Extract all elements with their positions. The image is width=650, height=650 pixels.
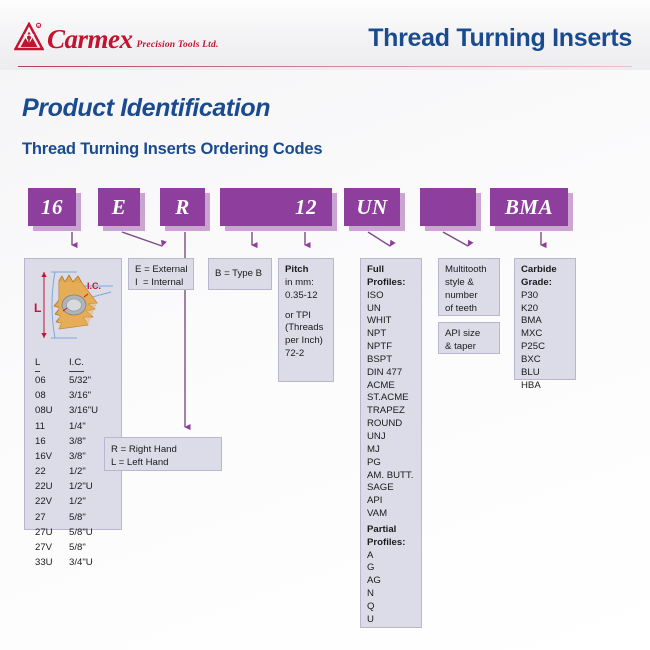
grade-item: P30 bbox=[521, 290, 569, 303]
full-profile-item: PG bbox=[367, 457, 415, 470]
pitch-spacer bbox=[285, 303, 327, 310]
size-table-header-l: L bbox=[35, 355, 40, 372]
code-box-direction[interactable]: R bbox=[160, 188, 205, 226]
full-profiles-list: ISOUNWHITNPTNPTFBSPTDIN 477ACMEST.ACMETR… bbox=[367, 290, 415, 521]
brand-tagline: Precision Tools Ltd. bbox=[137, 40, 219, 50]
grade-item: P25C bbox=[521, 341, 569, 354]
type-box: B = Type B bbox=[208, 258, 272, 290]
size-table-cell-ic: 5/32" bbox=[69, 373, 121, 388]
api-line: & taper bbox=[445, 341, 493, 354]
header-divider bbox=[18, 66, 632, 67]
grade-item: HBA bbox=[521, 380, 569, 393]
size-table-row: 08U3/16"U bbox=[35, 403, 121, 418]
partial-profile-item: U bbox=[367, 614, 415, 627]
direction-line: L = Left Hand bbox=[111, 457, 215, 470]
size-table-header: L I.C. bbox=[35, 355, 121, 373]
size-table-cell-l: 27U bbox=[35, 525, 69, 540]
partial-profile-item: Q bbox=[367, 601, 415, 614]
full-profile-item: AM. BUTT. bbox=[367, 470, 415, 483]
code-box-label: R bbox=[175, 195, 190, 220]
pitch-line: or TPI bbox=[285, 310, 327, 323]
partial-profile-item: AG bbox=[367, 575, 415, 588]
multitooth-line: style & bbox=[445, 277, 493, 290]
full-profile-item: UN bbox=[367, 303, 415, 316]
full-profile-item: NPTF bbox=[367, 341, 415, 354]
code-box-type[interactable] bbox=[220, 188, 280, 226]
code-box-profile[interactable]: UN bbox=[344, 188, 400, 226]
hand-type-box: E = External I = Internal bbox=[128, 258, 194, 290]
page-root: R Carmex Precision Tools Ltd. Thread Tur… bbox=[0, 0, 650, 650]
pitch-line: 0.35-12 bbox=[285, 290, 327, 303]
size-table-row: 083/16" bbox=[35, 388, 121, 403]
size-table-cell-l: 22 bbox=[35, 464, 69, 479]
grade-title: Grade: bbox=[521, 277, 569, 290]
partial-profiles-list: AGAGNQU bbox=[367, 550, 415, 627]
full-profile-item: ROUND bbox=[367, 418, 415, 431]
code-box-label: 16 bbox=[41, 195, 63, 220]
full-profile-item: SAGE bbox=[367, 482, 415, 495]
size-table-cell-l: 08 bbox=[35, 388, 69, 403]
api-box: API size & taper bbox=[438, 322, 500, 354]
size-table-cell-l: 16V bbox=[35, 449, 69, 464]
code-box-pitch[interactable]: 12 bbox=[280, 188, 332, 226]
size-table-cell-ic: 3/16"U bbox=[69, 403, 121, 418]
size-table-cell-l: 08U bbox=[35, 403, 69, 418]
full-profiles-title: Full bbox=[367, 264, 415, 277]
direction-box: R = Right Hand L = Left Hand bbox=[104, 437, 222, 471]
size-table-cell-ic: 5/8"U bbox=[69, 525, 121, 540]
api-line: API size bbox=[445, 328, 493, 341]
insert-diagram-box: L I.C. L I.C. 065/32"083/16"08U3/16"U111… bbox=[24, 258, 122, 530]
size-table-row: 111/4" bbox=[35, 419, 121, 434]
size-table-row: 22U1/2"U bbox=[35, 479, 121, 494]
pitch-box: Pitch in mm: 0.35-12 or TPI (Threads per… bbox=[278, 258, 334, 382]
size-table-cell-l: 16 bbox=[35, 434, 69, 449]
multitooth-line: of teeth bbox=[445, 303, 493, 316]
full-profile-item: MJ bbox=[367, 444, 415, 457]
size-table-row: 065/32" bbox=[35, 373, 121, 388]
size-table-row: 27U5/8"U bbox=[35, 525, 121, 540]
grade-item: BXC bbox=[521, 354, 569, 367]
page-header: R Carmex Precision Tools Ltd. Thread Tur… bbox=[0, 0, 650, 70]
grade-item: BMA bbox=[521, 315, 569, 328]
code-box-grade[interactable]: BMA bbox=[490, 188, 568, 226]
full-profile-item: UNJ bbox=[367, 431, 415, 444]
size-table-cell-l: 27 bbox=[35, 510, 69, 525]
grade-box: Carbide Grade: P30K20BMAMXCP25CBXCBLUHBA bbox=[514, 258, 576, 380]
size-table-cell-ic: 3/4"U bbox=[69, 555, 121, 570]
page-title: Product Identification bbox=[22, 94, 270, 123]
code-box-label: E bbox=[112, 195, 127, 220]
partial-profiles-title: Partial bbox=[367, 524, 415, 537]
size-table-cell-ic: 3/16" bbox=[69, 388, 121, 403]
pitch-title: Pitch bbox=[285, 264, 327, 277]
size-table-cell-l: 33U bbox=[35, 555, 69, 570]
type-line: B = Type B bbox=[215, 268, 262, 281]
full-profile-item: TRAPEZ bbox=[367, 405, 415, 418]
header-title: Thread Turning Inserts bbox=[368, 24, 632, 53]
size-table-cell-ic: 1/4" bbox=[69, 419, 121, 434]
size-table-row: 275/8" bbox=[35, 510, 121, 525]
full-profile-item: ISO bbox=[367, 290, 415, 303]
pitch-line: per Inch) bbox=[285, 335, 327, 348]
size-table-row: 27V5/8" bbox=[35, 540, 121, 555]
full-profile-item: ST.ACME bbox=[367, 392, 415, 405]
size-table-cell-l: 22V bbox=[35, 494, 69, 509]
direction-line: R = Right Hand bbox=[111, 444, 215, 457]
code-box-multitooth[interactable] bbox=[420, 188, 476, 226]
grade-item: BLU bbox=[521, 367, 569, 380]
grade-list: P30K20BMAMXCP25CBXCBLUHBA bbox=[521, 290, 569, 393]
partial-profile-item: G bbox=[367, 562, 415, 575]
brand-name: Carmex bbox=[47, 26, 133, 53]
pitch-line: in mm: bbox=[285, 277, 327, 290]
grade-item: K20 bbox=[521, 303, 569, 316]
pitch-line: 72-2 bbox=[285, 348, 327, 361]
partial-profiles-title: Profiles: bbox=[367, 537, 415, 550]
size-table-cell-l: 22U bbox=[35, 479, 69, 494]
brand-logo: R Carmex Precision Tools Ltd. bbox=[14, 22, 219, 53]
code-box-size[interactable]: 16 bbox=[28, 188, 76, 226]
full-profile-item: ACME bbox=[367, 380, 415, 393]
size-table-cell-l: 06 bbox=[35, 373, 69, 388]
full-profile-item: DIN 477 bbox=[367, 367, 415, 380]
full-profiles-title: Profiles: bbox=[367, 277, 415, 290]
size-table-row: 22V1/2" bbox=[35, 494, 121, 509]
size-table-row: 33U3/4"U bbox=[35, 555, 121, 570]
code-box-label: UN bbox=[356, 195, 387, 220]
size-table-cell-ic: 1/2"U bbox=[69, 479, 121, 494]
full-profile-item: BSPT bbox=[367, 354, 415, 367]
size-table-cell-l: 27V bbox=[35, 540, 69, 555]
size-table-cell-ic: 1/2" bbox=[69, 494, 121, 509]
code-box-label: 12 bbox=[295, 195, 317, 220]
partial-profile-item: N bbox=[367, 588, 415, 601]
full-profile-item: API bbox=[367, 495, 415, 508]
full-profile-item: VAM bbox=[367, 508, 415, 521]
grade-title: Carbide bbox=[521, 264, 569, 277]
page-subtitle: Thread Turning Inserts Ordering Codes bbox=[22, 140, 322, 159]
full-profile-item: NPT bbox=[367, 328, 415, 341]
grade-item: MXC bbox=[521, 328, 569, 341]
insert-illustration: L I.C. bbox=[25, 259, 121, 351]
size-table-cell-ic: 5/8" bbox=[69, 540, 121, 555]
pitch-line: (Threads bbox=[285, 322, 327, 335]
profiles-box: Full Profiles: ISOUNWHITNPTNPTFBSPTDIN 4… bbox=[360, 258, 422, 628]
size-table-body: 065/32"083/16"08U3/16"U111/4"163/8"16V3/… bbox=[35, 373, 121, 570]
dimension-label-ic: I.C. bbox=[87, 281, 101, 291]
size-table-cell-ic: 5/8" bbox=[69, 510, 121, 525]
size-table-cell-l: 11 bbox=[35, 419, 69, 434]
partial-profile-item: A bbox=[367, 550, 415, 563]
multitooth-box: Multitooth style & number of teeth bbox=[438, 258, 500, 316]
code-box-handtype[interactable]: E bbox=[98, 188, 140, 226]
full-profile-item: WHIT bbox=[367, 315, 415, 328]
multitooth-line: Multitooth bbox=[445, 264, 493, 277]
dimension-label-l: L bbox=[34, 301, 41, 315]
multitooth-line: number bbox=[445, 290, 493, 303]
code-box-label: BMA bbox=[505, 195, 553, 220]
carmex-triangle-icon: R bbox=[14, 22, 44, 52]
size-table-header-ic: I.C. bbox=[69, 355, 84, 372]
hand-type-line: I = Internal bbox=[135, 277, 187, 290]
hand-type-line: E = External bbox=[135, 264, 187, 277]
